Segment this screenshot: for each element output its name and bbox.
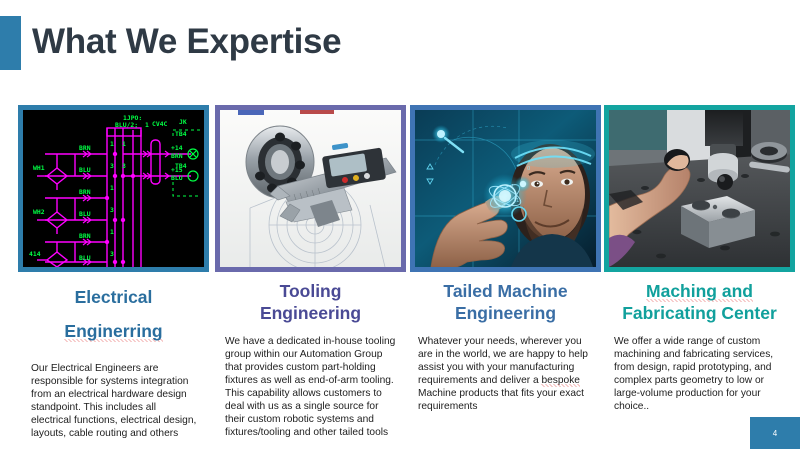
title-row: What We Expertise [0, 16, 800, 72]
svg-text:BLU: BLU [79, 210, 91, 218]
expertise-card-tooling[interactable]: Tooling Engineering We have a dedicated … [215, 105, 406, 439]
expertise-card-machining[interactable]: Maching and Fabricating Center We offer … [604, 105, 795, 413]
svg-text:3: 3 [110, 206, 114, 214]
svg-text:TB4: TB4 [175, 130, 187, 138]
svg-text:414: 414 [29, 250, 41, 258]
page-number-badge: 4 [750, 417, 800, 449]
title-accent-bar [0, 16, 21, 70]
card-image-frame: 1JPO: BLU/2; 1 CV4C BRN BLU BRN BLU BRN … [18, 105, 209, 272]
svg-text:3: 3 [110, 162, 114, 170]
svg-text:1: 1 [145, 121, 149, 129]
expertise-card-electrical[interactable]: 1JPO: BLU/2; 1 CV4C BRN BLU BRN BLU BRN … [18, 105, 209, 441]
svg-text:BRN: BRN [79, 188, 91, 196]
svg-text:BRN: BRN [79, 232, 91, 240]
svg-text:BLU: BLU [171, 174, 183, 182]
page-title: What We Expertise [32, 15, 341, 69]
card-heading: Tooling Engineering [215, 280, 406, 325]
card-heading-line1: Maching and [646, 281, 753, 302]
svg-text:BLU: BLU [79, 254, 91, 262]
card-body-text: Our Electrical Engineers are responsible… [18, 362, 209, 440]
card-image-frame [215, 105, 406, 272]
svg-text:JK: JK [179, 118, 187, 126]
card-body-text: Whatever your needs, wherever you are in… [410, 335, 601, 413]
svg-text:TB4: TB4 [175, 162, 187, 170]
svg-text:BLU/2;: BLU/2; [115, 121, 138, 129]
svg-text:BLU: BLU [79, 166, 91, 174]
svg-text:1: 1 [122, 140, 126, 148]
svg-text:1: 1 [110, 140, 114, 148]
engineer-hologram-interface-thumbnail: 1 11 0 [415, 110, 596, 267]
card-heading: Maching and Fabricating Center [604, 280, 795, 325]
svg-text:WH1: WH1 [33, 164, 45, 172]
electrical-schematic-thumbnail: 1JPO: BLU/2; 1 CV4C BRN BLU BRN BLU BRN … [23, 110, 204, 267]
card-heading-line1: Electrical [75, 287, 153, 307]
svg-text:CV4C: CV4C [152, 120, 168, 128]
card-body-text: We offer a wide range of custom machinin… [604, 335, 795, 413]
svg-text:0: 0 [527, 166, 530, 172]
svg-text:3: 3 [110, 250, 114, 258]
card-heading-line2: Engineering [260, 303, 361, 323]
svg-text:1: 1 [110, 228, 114, 236]
card-heading-line1: Tooling [280, 281, 342, 301]
svg-text:BRN: BRN [171, 152, 183, 160]
card-heading-line2: Engineering [455, 303, 556, 323]
slide: What We Expertise [0, 0, 800, 449]
bearing-caliper-blueprint-thumbnail [220, 110, 401, 267]
card-heading-line2: Fabricating Center [622, 303, 777, 323]
card-heading: Tailed Machine Engineering [410, 280, 601, 325]
cmm-machining-inspection-thumbnail [609, 110, 790, 267]
expertise-card-tailed-machine[interactable]: 1 11 0 Tailed Machine Engineering Whatev… [410, 105, 601, 413]
card-heading-line1: Tailed Machine [443, 281, 567, 301]
svg-text:1: 1 [511, 184, 514, 190]
svg-text:+14: +14 [171, 144, 183, 152]
page-number: 4 [773, 429, 777, 438]
svg-text:11: 11 [513, 198, 519, 204]
card-body-misspelled-word: bespoke [541, 375, 580, 387]
svg-text:3: 3 [122, 162, 126, 170]
card-body-text: We have a dedicated in-house tooling gro… [215, 335, 406, 439]
card-image-frame: 1 11 0 [410, 105, 601, 272]
card-image-frame [604, 105, 795, 272]
expertise-cards: 1JPO: BLU/2; 1 CV4C BRN BLU BRN BLU BRN … [0, 105, 800, 445]
svg-text:BRN: BRN [79, 144, 91, 152]
card-body-post: Machine products that fits your exact re… [418, 388, 584, 412]
card-heading-line2: Enginerring [64, 321, 162, 342]
card-heading: Electrical Enginerring [18, 280, 209, 348]
svg-text:WH2: WH2 [33, 208, 45, 216]
svg-text:1: 1 [110, 184, 114, 192]
